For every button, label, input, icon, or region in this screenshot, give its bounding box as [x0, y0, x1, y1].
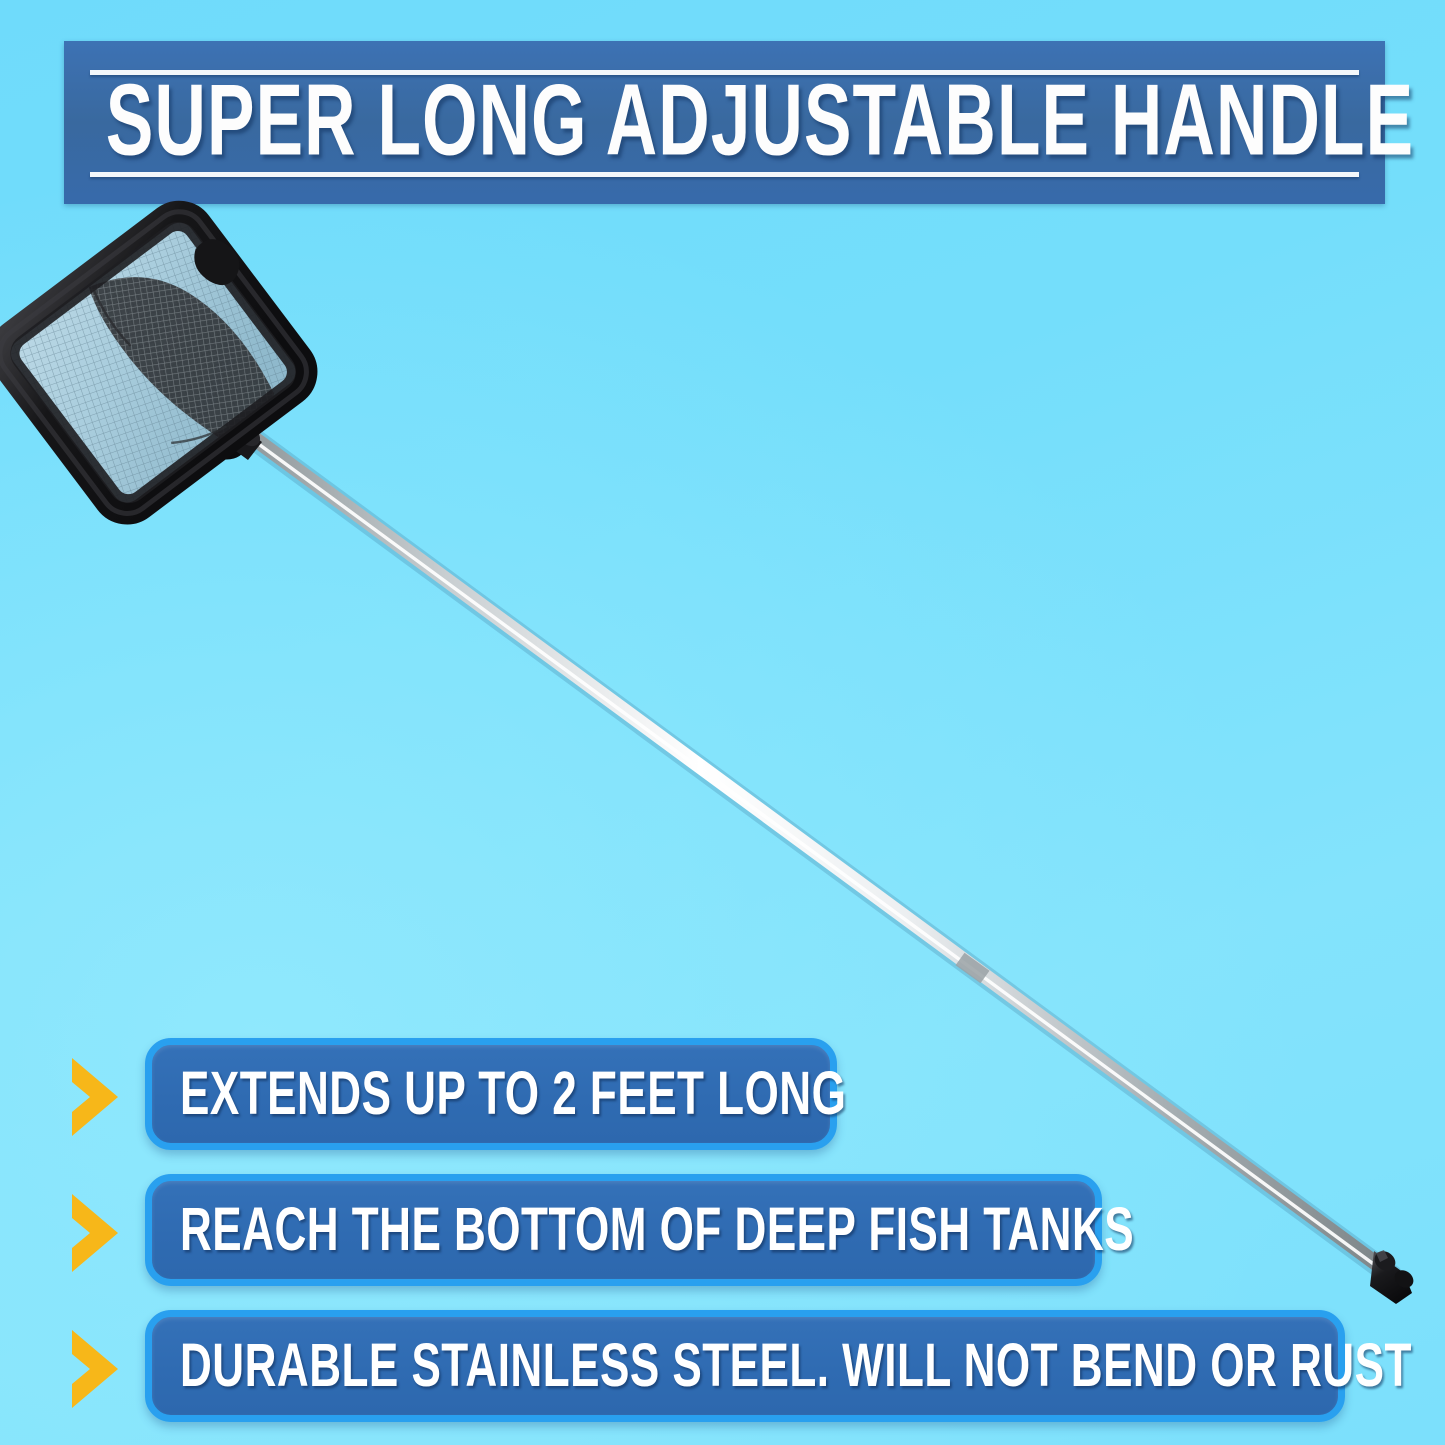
header-banner: SUPER LONG ADJUSTABLE HANDLE — [64, 41, 1385, 204]
product-feature-image: SUPER LONG ADJUSTABLE HANDLE — [0, 0, 1445, 1445]
feature-label-2: REACH THE BOTTOM OF DEEP FISH TANKS — [152, 1202, 1240, 1258]
chevron-right-icon — [68, 1054, 124, 1140]
net-collar — [185, 393, 264, 460]
feature-list: EXTENDS UP TO 2 FEET LONG REACH THE BOTT… — [0, 1038, 1445, 1445]
chevron-right-icon — [68, 1326, 124, 1412]
list-item: DURABLE STAINLESS STEEL. WILL NOT BEND O… — [0, 1310, 1445, 1428]
list-item: EXTENDS UP TO 2 FEET LONG — [0, 1038, 1445, 1156]
chevron-right-icon — [68, 1190, 124, 1276]
page-title: SUPER LONG ADJUSTABLE HANDLE — [64, 83, 1385, 159]
feature-label-3: DURABLE STAINLESS STEEL. WILL NOT BEND O… — [152, 1338, 1445, 1394]
net-head — [0, 196, 330, 532]
page-title-text: SUPER LONG ADJUSTABLE HANDLE — [106, 70, 1414, 171]
list-item: REACH THE BOTTOM OF DEEP FISH TANKS — [0, 1174, 1445, 1292]
feature-label-1: EXTENDS UP TO 2 FEET LONG — [152, 1066, 920, 1122]
feature-pill-2[interactable]: REACH THE BOTTOM OF DEEP FISH TANKS — [145, 1174, 1102, 1286]
feature-pill-3[interactable]: DURABLE STAINLESS STEEL. WILL NOT BEND O… — [145, 1310, 1345, 1422]
feature-pill-1[interactable]: EXTENDS UP TO 2 FEET LONG — [145, 1038, 837, 1150]
